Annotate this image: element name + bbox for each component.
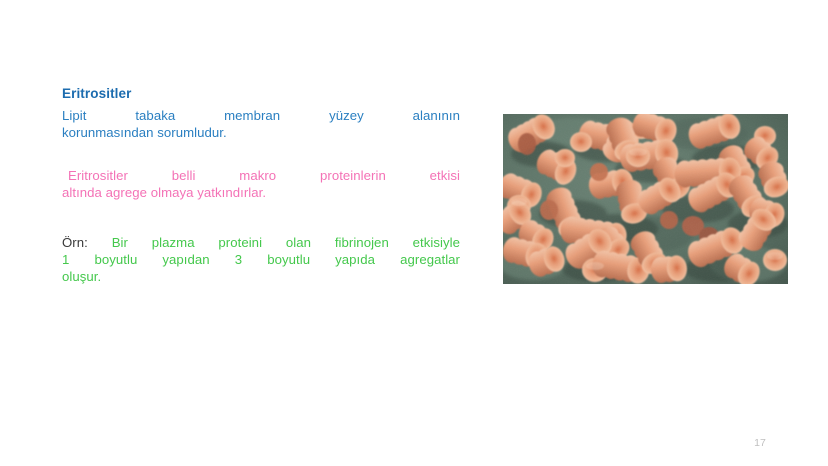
paragraph-line: Eritrositler belli makro proteinlerin et… bbox=[62, 167, 460, 184]
page-title: Eritrositler bbox=[62, 86, 460, 103]
paragraph-line-with-label: Örn: Bir plazma proteini olan fibrinojen… bbox=[62, 234, 460, 251]
paragraph-line: korunmasından sorumludur. bbox=[62, 124, 460, 141]
paragraph-line: altında agrege olmaya yatkındırlar. bbox=[62, 184, 460, 201]
page-number: 17 bbox=[748, 437, 772, 449]
paragraph-line: Lipit tabaka membran yüzey alanının bbox=[62, 107, 460, 124]
paragraph-lipid-membrane: Lipit tabaka membran yüzey alanının koru… bbox=[62, 107, 460, 141]
paragraph-line bbox=[88, 235, 112, 250]
paragraph-aggregation: Eritrositler belli makro proteinlerin et… bbox=[62, 167, 460, 201]
erythrocyte-rouleaux-micrograph bbox=[503, 114, 788, 284]
paragraph-line: Bir plazma proteini olan fibrinojen etki… bbox=[112, 235, 460, 250]
text-content-column: Eritrositler Lipit tabaka membran yüzey … bbox=[62, 86, 460, 285]
paragraph-example: Örn: Bir plazma proteini olan fibrinojen… bbox=[62, 234, 460, 285]
paragraph-line: 1 boyutlu yapıdan 3 boyutlu yapıda agreg… bbox=[62, 251, 460, 268]
example-label: Örn: bbox=[62, 235, 88, 250]
slide-canvas: Eritrositler Lipit tabaka membran yüzey … bbox=[0, 0, 828, 466]
paragraph-line: oluşur. bbox=[62, 268, 460, 285]
